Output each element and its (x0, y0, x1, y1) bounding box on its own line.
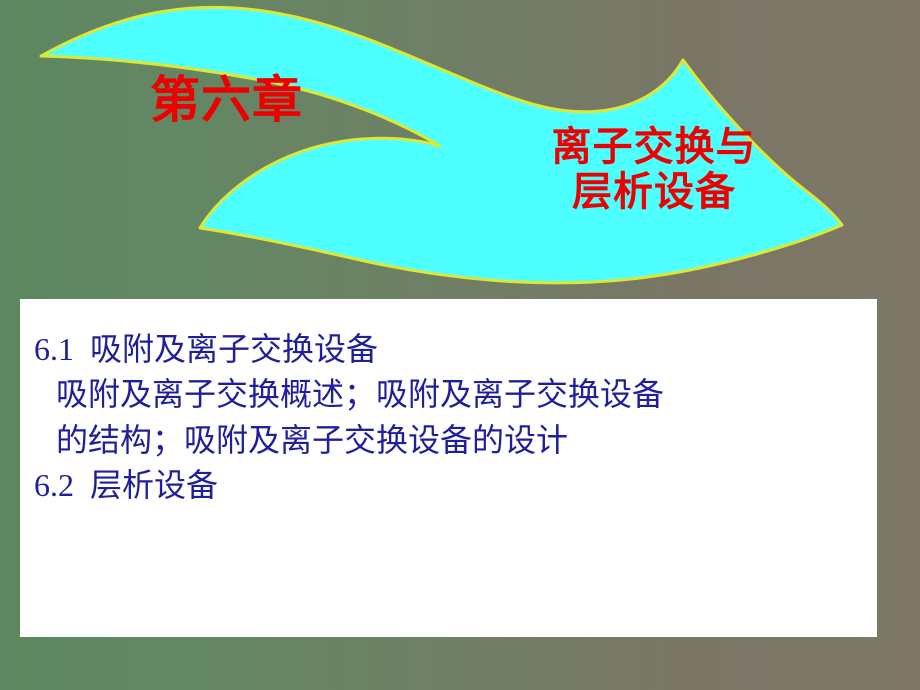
content-panel: 6.1 吸附及离子交换设备 吸附及离子交换概述；吸附及离子交换设备 的结构；吸附… (20, 299, 877, 637)
outline-text-block: 6.1 吸附及离子交换设备 吸附及离子交换概述；吸附及离子交换设备 的结构；吸附… (34, 327, 872, 509)
chapter-number-title: 第六章 (150, 72, 303, 128)
presentation-slide: 第六章 离子交换与 层析设备 6.1 吸附及离子交换设备 吸附及离子交换概述；吸… (0, 0, 920, 690)
outline-line-6-1-detail-b: 的结构；吸附及离子交换设备的设计 (34, 418, 872, 463)
outline-line-6-1: 6.1 吸附及离子交换设备 (34, 327, 872, 372)
outline-line-6-1-detail-a: 吸附及离子交换概述；吸附及离子交换设备 (34, 372, 872, 417)
outline-line-6-2: 6.2 层析设备 (34, 463, 872, 508)
chapter-topic-title: 离子交换与 层析设备 (525, 125, 783, 215)
